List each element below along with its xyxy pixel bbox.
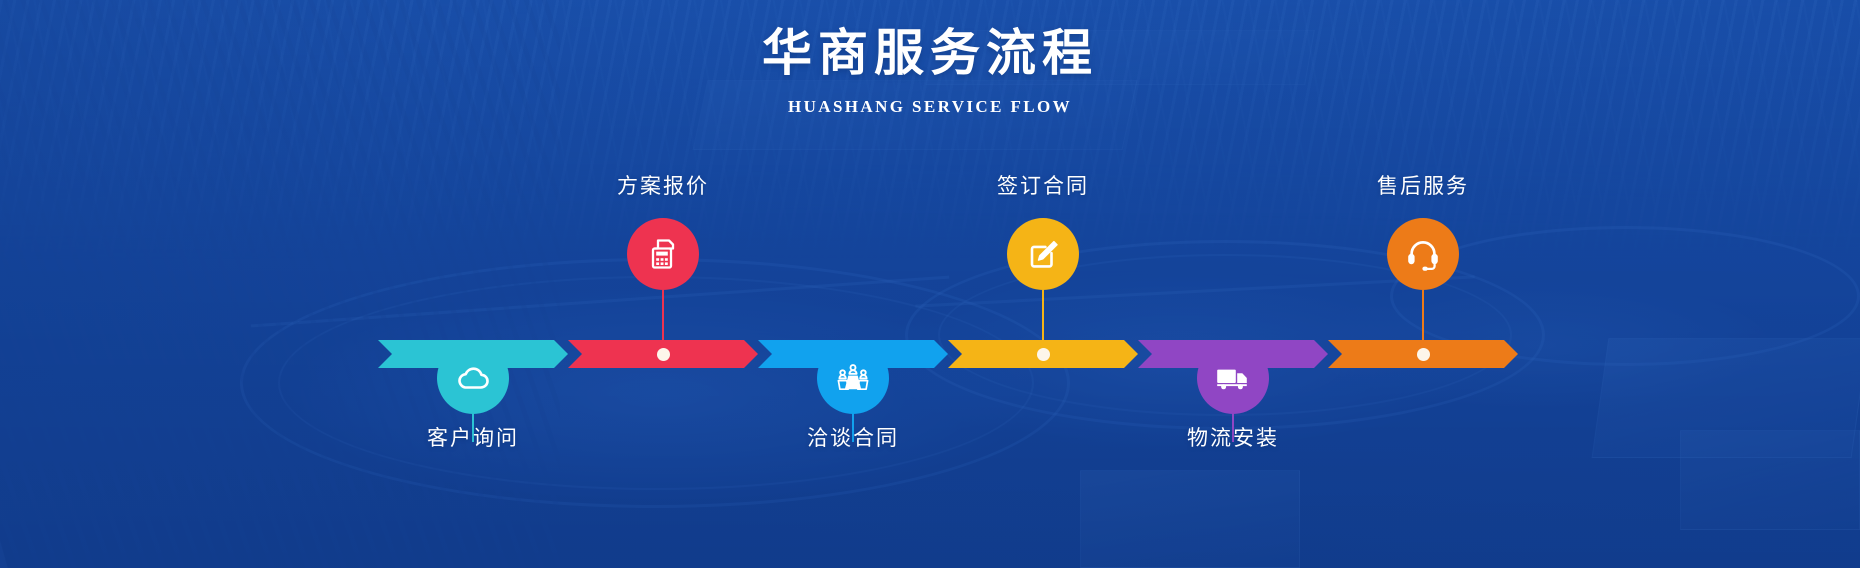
flow-step-label-1: 客户询问	[373, 422, 573, 452]
headset-icon	[1403, 234, 1443, 274]
flow-step-circle-1[interactable]	[437, 342, 509, 414]
banner-heading-group: 华商服务流程 HUASHANG SERVICE FLOW	[0, 22, 1860, 117]
flow-step-label-3: 洽谈合同	[753, 422, 953, 452]
flow-connector-6	[1422, 290, 1424, 348]
flow-connector-2	[662, 290, 664, 348]
flow-step-circle-4[interactable]	[1007, 218, 1079, 290]
page-title: 华商服务流程	[0, 22, 1860, 85]
service-flow-banner: 华商服务流程 HUASHANG SERVICE FLOW	[0, 0, 1860, 568]
flow-step-label-4: 签订合同	[943, 170, 1143, 200]
calculator-receipt-icon	[643, 234, 683, 274]
flow-connector-4	[1042, 290, 1044, 348]
flow-step-circle-6[interactable]	[1387, 218, 1459, 290]
flow-step-circle-5[interactable]	[1197, 342, 1269, 414]
flow-node-dot-2	[657, 348, 670, 361]
flow-node-dot-6	[1417, 348, 1430, 361]
meeting-table-icon	[833, 358, 873, 398]
cloud-icon	[453, 358, 493, 398]
flow-node-dot-4	[1037, 348, 1050, 361]
flow-step-circle-2[interactable]	[627, 218, 699, 290]
page-subtitle: HUASHANG SERVICE FLOW	[0, 97, 1860, 117]
truck-icon	[1213, 358, 1253, 398]
flow-chevron-bar	[378, 340, 1518, 368]
flow-step-label-6: 售后服务	[1323, 170, 1523, 200]
flow-step-label-5: 物流安装	[1133, 422, 1333, 452]
flow-step-label-2: 方案报价	[563, 170, 763, 200]
flow-step-circle-3[interactable]	[817, 342, 889, 414]
pen-sign-icon	[1023, 234, 1063, 274]
